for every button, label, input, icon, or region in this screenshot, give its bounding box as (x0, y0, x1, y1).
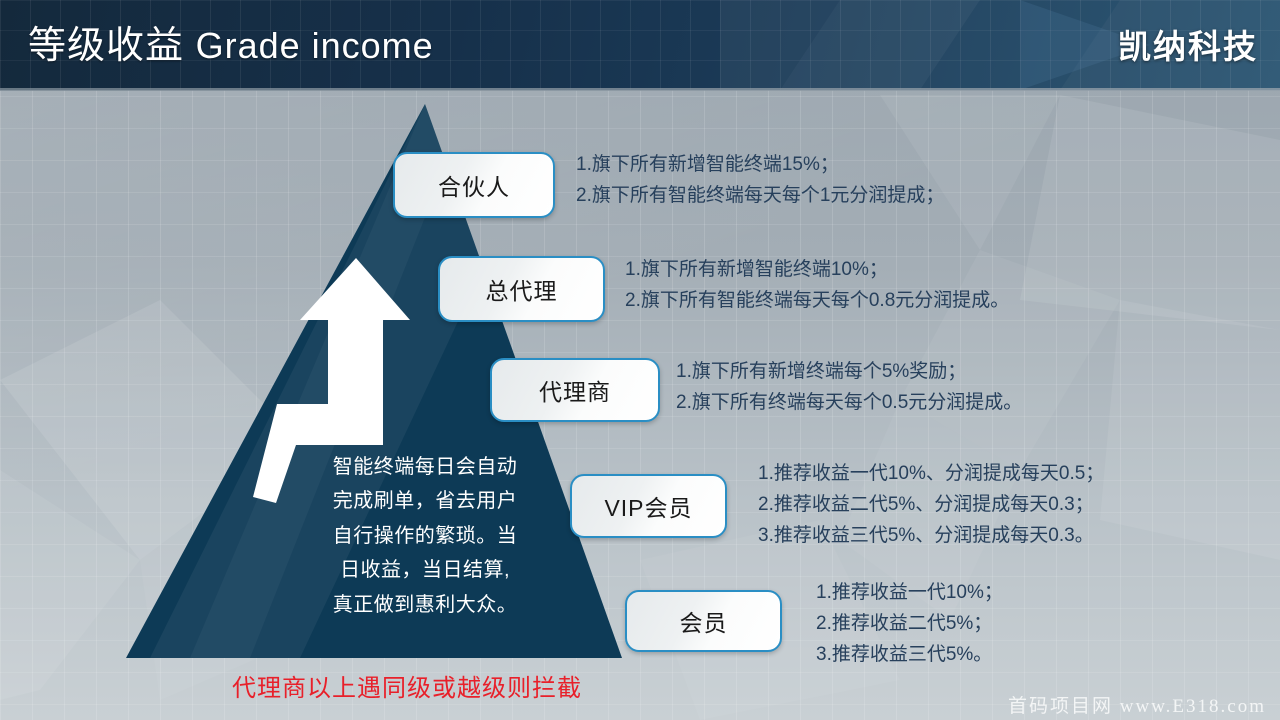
note-line: 自行操作的繁琐。当 (300, 519, 550, 553)
level-desc-member: 1.推荐收益一代10%； 2.推荐收益二代5%； 3.推荐收益三代5%。 (816, 578, 1003, 670)
desc-line: 1.旗下所有新增智能终端15%； (576, 150, 944, 181)
note-line: 智能终端每日会自动 (300, 450, 550, 484)
level-box-vip-member[interactable]: VIP会员 (570, 474, 727, 538)
level-box-agent[interactable]: 代理商 (490, 358, 660, 422)
level-desc-vip-member: 1.推荐收益一代10%、分润提成每天0.5； 2.推荐收益二代5%、分润提成每天… (758, 459, 1104, 551)
desc-line: 1.推荐收益一代10%； (816, 578, 1003, 609)
note-line: 完成刷单，省去用户 (300, 484, 550, 518)
level-box-partner[interactable]: 合伙人 (393, 152, 555, 218)
desc-line: 1.旗下所有新增智能终端10%； (625, 255, 1009, 286)
note-line: 真正做到惠利大众。 (300, 588, 550, 622)
level-box-member[interactable]: 会员 (625, 590, 782, 652)
level-label: 会员 (680, 604, 728, 638)
level-label: 代理商 (539, 373, 611, 407)
desc-line: 1.推荐收益一代10%、分润提成每天0.5； (758, 459, 1104, 490)
level-label: 总代理 (486, 272, 558, 306)
warning-text: 代理商以上遇同级或越级则拦截 (232, 668, 582, 703)
level-desc-partner: 1.旗下所有新增智能终端15%； 2.旗下所有智能终端每天每个1元分润提成； (576, 150, 944, 212)
desc-line: 2.旗下所有智能终端每天每个0.8元分润提成。 (625, 286, 1009, 317)
desc-line: 1.旗下所有新增终端每个5%奖励； (676, 357, 1022, 388)
slide-canvas: 等级收益 Grade income 凯纳科技 合伙人 总代理 代理商 VIP会员… (0, 0, 1280, 720)
level-box-general-agent[interactable]: 总代理 (438, 256, 605, 322)
desc-line: 2.旗下所有智能终端每天每个1元分润提成； (576, 181, 944, 212)
pyramid-note: 智能终端每日会自动 完成刷单，省去用户 自行操作的繁琐。当 日收益，当日结算, … (300, 450, 550, 622)
note-line: 日收益，当日结算, (300, 553, 550, 587)
level-desc-agent: 1.旗下所有新增终端每个5%奖励； 2.旗下所有终端每天每个0.5元分润提成。 (676, 357, 1022, 419)
level-label: VIP会员 (604, 489, 692, 523)
desc-line: 2.旗下所有终端每天每个0.5元分润提成。 (676, 388, 1022, 419)
watermark: 首码项目网 www.E318.com (1008, 691, 1266, 718)
desc-line: 2.推荐收益二代5%； (816, 609, 1003, 640)
desc-line: 2.推荐收益二代5%、分润提成每天0.3； (758, 490, 1104, 521)
desc-line: 3.推荐收益三代5%、分润提成每天0.3。 (758, 521, 1104, 552)
level-label: 合伙人 (438, 168, 510, 202)
desc-line: 3.推荐收益三代5%。 (816, 640, 1003, 671)
level-desc-general-agent: 1.旗下所有新增智能终端10%； 2.旗下所有智能终端每天每个0.8元分润提成。 (625, 255, 1009, 317)
